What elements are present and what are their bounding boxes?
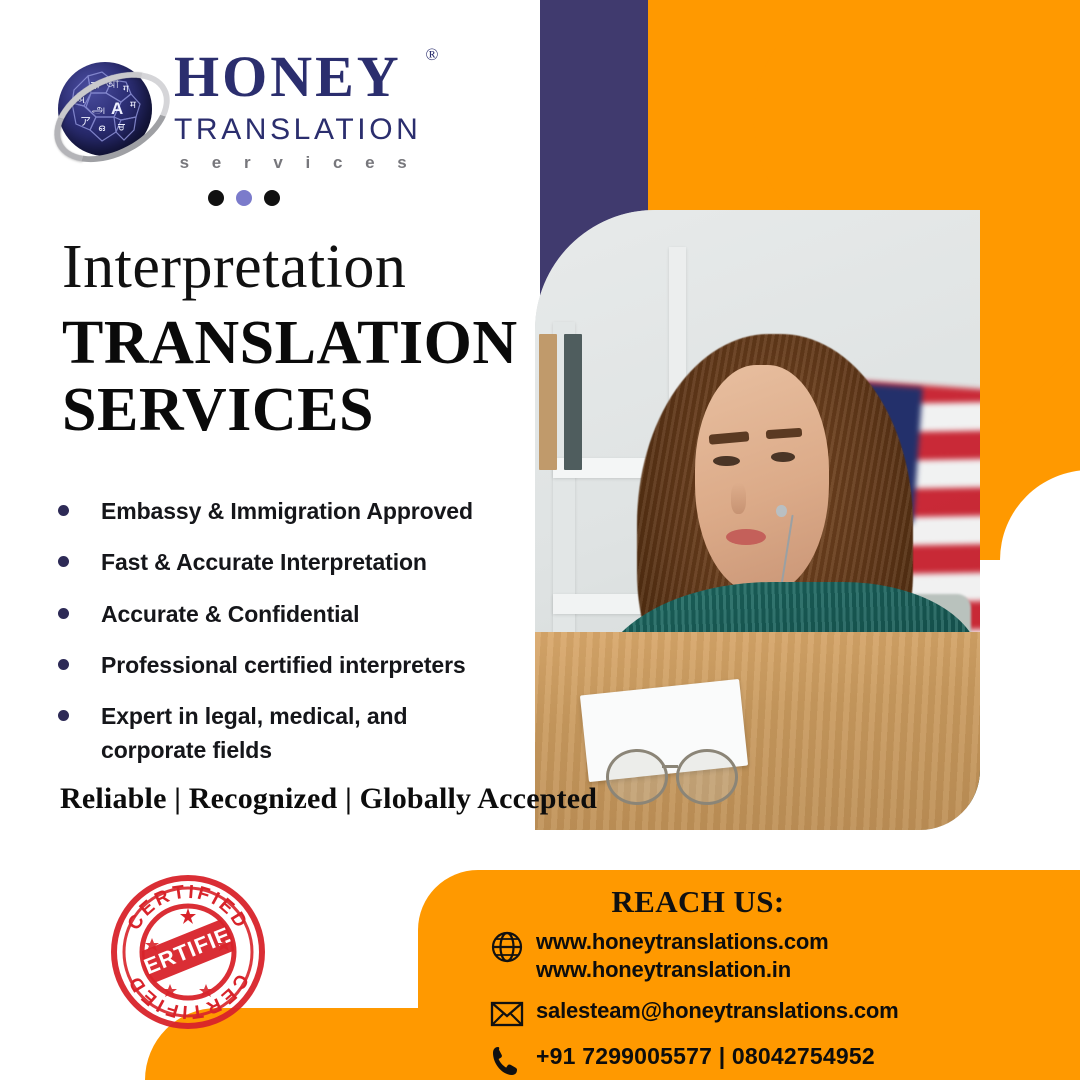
footer-title: REACH US:	[418, 884, 978, 920]
decorative-dots	[208, 190, 280, 206]
person-face	[695, 365, 829, 594]
brand-logo[interactable]: क আ ग બ அ A म ア ഒ ਚ HONEY®	[52, 48, 421, 171]
logo-primary-label: HONEY	[174, 44, 402, 109]
certified-stamp-icon: CERTIFIED CERTIFIED CERTIFIED	[108, 872, 268, 1032]
globe-icon	[490, 928, 536, 964]
phone-numbers[interactable]: +91 7299005577 | 08042754952	[536, 1042, 875, 1071]
contact-row-email[interactable]: salesteam@honeytranslations.com	[490, 997, 899, 1029]
bullet-dot-icon	[58, 556, 69, 567]
eyeglass-lens	[676, 749, 738, 805]
email-address[interactable]: salesteam@honeytranslations.com	[536, 997, 899, 1025]
headline-bold-line-2: SERVICES	[62, 377, 518, 444]
person-eye	[771, 452, 795, 462]
person-eye	[713, 456, 740, 467]
list-item: Professional certified interpreters	[58, 649, 528, 682]
book	[539, 334, 557, 470]
dot-3	[264, 190, 280, 206]
eyeglass-lens	[606, 749, 668, 805]
bullet-dot-icon	[58, 710, 69, 721]
list-item-label: Professional certified interpreters	[101, 649, 466, 682]
dot-2	[236, 190, 252, 206]
feature-list: Embassy & Immigration Approved Fast & Ac…	[58, 495, 528, 785]
eyeglass-bridge	[662, 765, 678, 768]
list-item: Embassy & Immigration Approved	[58, 495, 528, 528]
earphone-icon	[776, 505, 787, 517]
list-item: Accurate & Confidential	[58, 598, 528, 631]
registered-mark-icon: ®	[425, 46, 441, 63]
book	[564, 334, 582, 470]
envelope-icon	[490, 997, 536, 1029]
list-item: Expert in legal, medical, and corporate …	[58, 700, 528, 767]
logo-tertiary-text: s e r v i c e s	[174, 154, 421, 171]
website-line-2[interactable]: www.honeytranslation.in	[536, 956, 828, 984]
list-item: Fast & Accurate Interpretation	[58, 546, 528, 579]
dot-1	[208, 190, 224, 206]
contact-list: www.honeytranslations.com www.honeytrans…	[490, 928, 899, 1080]
list-item-label: Accurate & Confidential	[101, 598, 359, 631]
list-item-label: Expert in legal, medical, and corporate …	[101, 700, 441, 767]
headline-bold-line-1: TRANSLATION	[62, 310, 518, 377]
bullet-dot-icon	[58, 608, 69, 619]
headline-script-line: Interpretation	[62, 236, 518, 298]
tagline: Reliable | Recognized | Globally Accepte…	[60, 782, 597, 816]
logo-primary-text: HONEY®	[174, 48, 421, 106]
list-item-label: Fast & Accurate Interpretation	[101, 546, 427, 579]
phone-icon	[490, 1042, 536, 1078]
globe-languages-icon: क আ ग બ அ A म ア ഒ ਚ	[52, 56, 160, 164]
bullet-dot-icon	[58, 659, 69, 670]
contact-row-phone[interactable]: +91 7299005577 | 08042754952	[490, 1042, 899, 1078]
hero-photo	[535, 210, 980, 830]
poster-canvas: क আ ग બ அ A म ア ഒ ਚ HONEY®	[0, 0, 1080, 1080]
list-item-label: Embassy & Immigration Approved	[101, 495, 473, 528]
logo-secondary-text: TRANSLATION	[174, 115, 421, 145]
website-line-1[interactable]: www.honeytranslations.com	[536, 928, 828, 956]
page-title: Interpretation TRANSLATION SERVICES	[62, 236, 518, 444]
eyeglasses	[606, 749, 740, 799]
contact-row-website[interactable]: www.honeytranslations.com www.honeytrans…	[490, 928, 899, 984]
person-nose	[731, 483, 747, 514]
bullet-dot-icon	[58, 505, 69, 516]
